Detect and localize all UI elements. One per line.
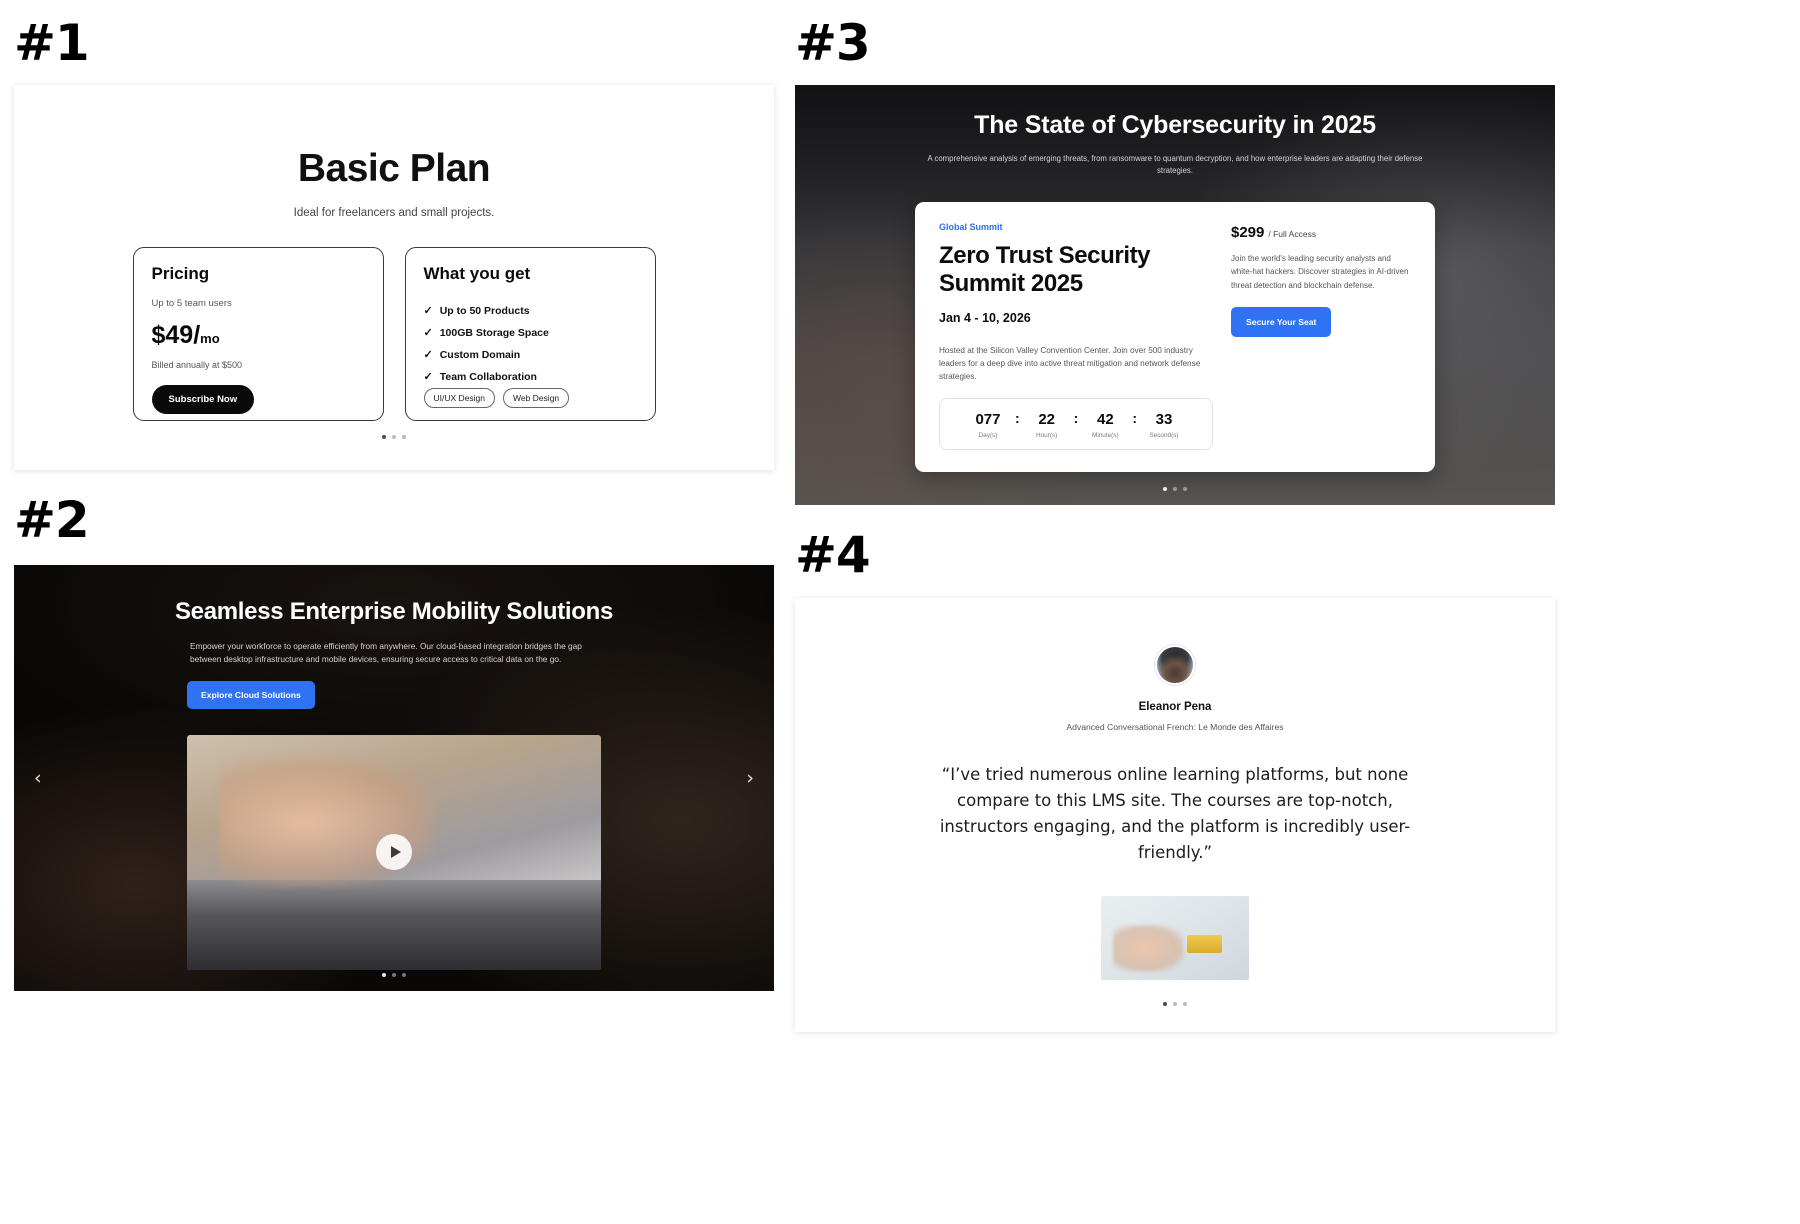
testimonial-panel: Eleanor Pena Advanced Conversational Fre… xyxy=(795,598,1555,1032)
secure-your-seat-button[interactable]: Secure Your Seat xyxy=(1231,307,1331,337)
hero-title: The State of Cybersecurity in 2025 xyxy=(795,85,1555,140)
play-icon[interactable] xyxy=(376,834,412,870)
feature-label: Custom Domain xyxy=(440,349,521,361)
feature-item: ✓ Up to 50 Products xyxy=(424,304,637,317)
carousel-dot[interactable] xyxy=(382,435,386,439)
pricing-plan-panel: Basic Plan Ideal for freelancers and sma… xyxy=(14,85,774,470)
enterprise-mobility-panel: Seamless Enterprise Mobility Solutions E… xyxy=(14,565,774,991)
carousel-dot[interactable] xyxy=(402,973,406,977)
countdown-separator: : xyxy=(1074,411,1079,426)
countdown-label: Second(s) xyxy=(1147,432,1181,439)
event-description: Hosted at the Silicon Valley Convention … xyxy=(939,344,1213,384)
pricing-card-heading: Pricing xyxy=(152,264,365,284)
carousel-dot[interactable] xyxy=(402,435,406,439)
event-date: Jan 4 - 10, 2026 xyxy=(939,311,1213,325)
features-card-heading: What you get xyxy=(424,264,637,284)
countdown-label: Hour(s) xyxy=(1030,432,1064,439)
pricing-billed-note: Billed annually at $500 xyxy=(152,360,365,370)
pricing-amount: $49/mo xyxy=(152,321,365,350)
hero-title: Seamless Enterprise Mobility Solutions xyxy=(14,598,774,626)
carousel-dot[interactable] xyxy=(1173,1002,1177,1006)
hero-description: Empower your workforce to operate effici… xyxy=(190,640,598,666)
countdown-label: Day(s) xyxy=(971,432,1005,439)
feature-item: ✓ Team Collaboration xyxy=(424,370,637,383)
carousel-dots xyxy=(795,1002,1555,1006)
user-avatar-icon xyxy=(1155,645,1195,685)
panel-label-3: #3 xyxy=(795,18,870,68)
price-value: $49/ xyxy=(152,321,201,349)
plan-cards: Pricing Up to 5 team users $49/mo Billed… xyxy=(14,247,774,421)
feature-label: Team Collaboration xyxy=(440,371,537,383)
features-card: What you get ✓ Up to 50 Products ✓ 100GB… xyxy=(405,247,656,421)
carousel-dot[interactable] xyxy=(392,973,396,977)
plan-subtitle: Ideal for freelancers and small projects… xyxy=(14,207,774,219)
video-thumbnail[interactable] xyxy=(187,735,601,970)
testimonial-author-name: Eleanor Pena xyxy=(795,701,1555,713)
countdown-separator: : xyxy=(1015,411,1020,426)
event-title: Zero Trust Security Summit 2025 xyxy=(939,242,1213,299)
carousel-dots xyxy=(14,435,774,439)
hero-content: Seamless Enterprise Mobility Solutions E… xyxy=(14,565,774,970)
panel-label-2: #2 xyxy=(14,495,89,545)
countdown-separator: : xyxy=(1132,411,1137,426)
event-kicker: Global Summit xyxy=(939,222,1213,232)
price-access-note: / Full Access xyxy=(1268,229,1316,239)
testimonial-quote: “I’ve tried numerous online learning pla… xyxy=(927,762,1423,866)
features-tags: UI/UX Design Web Design xyxy=(424,388,570,408)
check-icon: ✓ xyxy=(424,304,433,317)
panel-label-1: #1 xyxy=(14,18,89,68)
carousel-next-icon[interactable]: › xyxy=(746,767,754,789)
hero-content: The State of Cybersecurity in 2025 A com… xyxy=(795,85,1555,472)
price-value: $299 xyxy=(1231,224,1264,241)
feature-item: ✓ Custom Domain xyxy=(424,348,637,361)
countdown-unit: 077 Day(s) xyxy=(971,411,1005,439)
carousel-dot[interactable] xyxy=(1163,1002,1167,1006)
countdown-unit: 22 Hour(s) xyxy=(1030,411,1064,439)
event-card-right: $299/ Full Access Join the world's leadi… xyxy=(1231,222,1411,450)
feature-item: ✓ 100GB Storage Space xyxy=(424,326,637,339)
feature-label: 100GB Storage Space xyxy=(440,327,549,339)
countdown-unit: 42 Minute(s) xyxy=(1088,411,1122,439)
pricing-card: Pricing Up to 5 team users $49/mo Billed… xyxy=(133,247,384,421)
check-icon: ✓ xyxy=(424,370,433,383)
pricing-users: Up to 5 team users xyxy=(152,298,365,309)
check-icon: ✓ xyxy=(424,326,433,339)
carousel-dot[interactable] xyxy=(1173,487,1177,491)
explore-cloud-solutions-button[interactable]: Explore Cloud Solutions xyxy=(187,681,315,709)
carousel-dot[interactable] xyxy=(1163,487,1167,491)
event-right-description: Join the world's leading security analys… xyxy=(1231,252,1411,292)
feature-label: Up to 50 Products xyxy=(440,305,530,317)
event-price: $299/ Full Access xyxy=(1231,224,1411,241)
plan-title: Basic Plan xyxy=(14,147,774,191)
event-card-left: Global Summit Zero Trust Security Summit… xyxy=(939,222,1213,450)
carousel-dot[interactable] xyxy=(1183,1002,1187,1006)
carousel-dot[interactable] xyxy=(1183,487,1187,491)
tag-chip[interactable]: UI/UX Design xyxy=(424,388,496,408)
carousel-dot[interactable] xyxy=(382,973,386,977)
carousel-dot[interactable] xyxy=(392,435,396,439)
countdown-value: 22 xyxy=(1030,411,1064,428)
countdown-value: 077 xyxy=(971,411,1005,428)
testimonial-course-name: Advanced Conversational French: Le Monde… xyxy=(795,722,1555,732)
countdown-unit: 33 Second(s) xyxy=(1147,411,1181,439)
features-list: ✓ Up to 50 Products ✓ 100GB Storage Spac… xyxy=(424,304,637,383)
countdown-value: 42 xyxy=(1088,411,1122,428)
carousel-dots xyxy=(795,487,1555,491)
hero-subtitle: A comprehensive analysis of emerging thr… xyxy=(927,153,1423,178)
price-period: mo xyxy=(200,331,220,346)
countdown-value: 33 xyxy=(1147,411,1181,428)
screenshot-root: #1 Basic Plan Ideal for freelancers and … xyxy=(0,0,1800,1224)
carousel-dots xyxy=(14,973,774,977)
check-icon: ✓ xyxy=(424,348,433,361)
countdown-timer: 077 Day(s) : 22 Hour(s) : 42 Minute(s) xyxy=(939,398,1213,450)
event-card: Global Summit Zero Trust Security Summit… xyxy=(915,202,1435,472)
countdown-label: Minute(s) xyxy=(1088,432,1122,439)
course-thumbnail-icon[interactable] xyxy=(1101,896,1249,980)
carousel-prev-icon[interactable]: ‹ xyxy=(34,767,42,789)
cybersecurity-summit-panel: The State of Cybersecurity in 2025 A com… xyxy=(795,85,1555,505)
subscribe-button[interactable]: Subscribe Now xyxy=(152,385,255,414)
panel-label-4: #4 xyxy=(795,530,870,580)
tag-chip[interactable]: Web Design xyxy=(503,388,569,408)
